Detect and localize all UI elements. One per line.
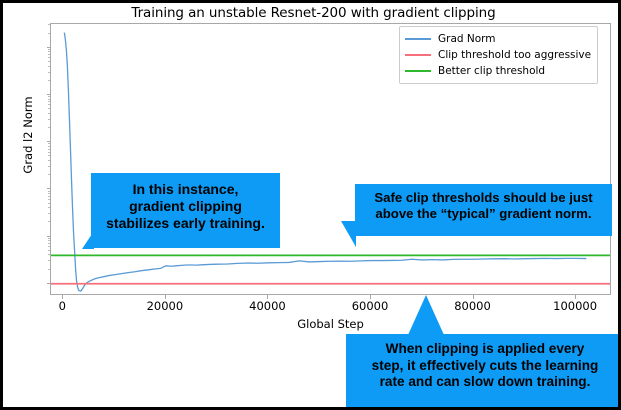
- annotation-callout-1: In this instance,gradient clippingstabil…: [91, 173, 280, 248]
- legend-swatch-icon: [405, 54, 431, 56]
- x-tick-label: 80000: [438, 299, 508, 313]
- x-tick-label: 0: [27, 299, 97, 313]
- x-tick-label: 40000: [232, 299, 302, 313]
- x-tick-label: 100000: [540, 299, 610, 313]
- callout-3-tail-icon: [408, 295, 444, 335]
- x-tick-mark: [267, 295, 268, 299]
- legend-swatch-icon: [405, 38, 431, 40]
- legend-item[interactable]: Better clip threshold: [405, 63, 591, 79]
- x-tick-mark: [62, 295, 63, 299]
- x-tick-mark: [473, 295, 474, 299]
- legend-item[interactable]: Grad Norm: [405, 31, 591, 47]
- x-tick-mark: [370, 295, 371, 299]
- callout-2-tail-icon: [341, 221, 356, 247]
- legend-label: Clip threshold too aggressive: [438, 49, 591, 61]
- page-title: Training an unstable Resnet-200 with gra…: [3, 5, 621, 21]
- x-tick-mark: [165, 295, 166, 299]
- figure-canvas: Training an unstable Resnet-200 with gra…: [0, 0, 621, 410]
- callout-line: gradient clipping: [91, 198, 280, 215]
- x-tick-mark: [575, 295, 576, 299]
- callout-line: above the “typical” gradient norm.: [355, 206, 612, 222]
- legend: Grad NormClip threshold too aggressiveBe…: [399, 26, 598, 84]
- x-tick-label: 60000: [335, 299, 405, 313]
- legend-label: Better clip threshold: [438, 65, 545, 77]
- legend-item[interactable]: Clip threshold too aggressive: [405, 47, 591, 63]
- x-axis-label: Global Step: [50, 317, 611, 331]
- callout-line: step, it effectively cuts the learning: [346, 358, 621, 375]
- callout-line: When clipping is applied every: [346, 341, 621, 358]
- legend-swatch-icon: [405, 70, 431, 72]
- legend-label: Grad Norm: [438, 33, 496, 45]
- annotation-callout-3: When clipping is applied everystep, it e…: [346, 334, 621, 410]
- callout-line: stabilizes early training.: [91, 215, 280, 232]
- callout-line: Safe clip thresholds should be just: [355, 190, 612, 206]
- callout-line: In this instance,: [91, 181, 280, 198]
- y-axis-label: Grad l2 Norm: [21, 15, 35, 255]
- x-tick-label: 20000: [130, 299, 200, 313]
- callout-line: rate and can slow down training.: [346, 374, 621, 391]
- annotation-callout-2: Safe clip thresholds should be justabove…: [355, 184, 612, 236]
